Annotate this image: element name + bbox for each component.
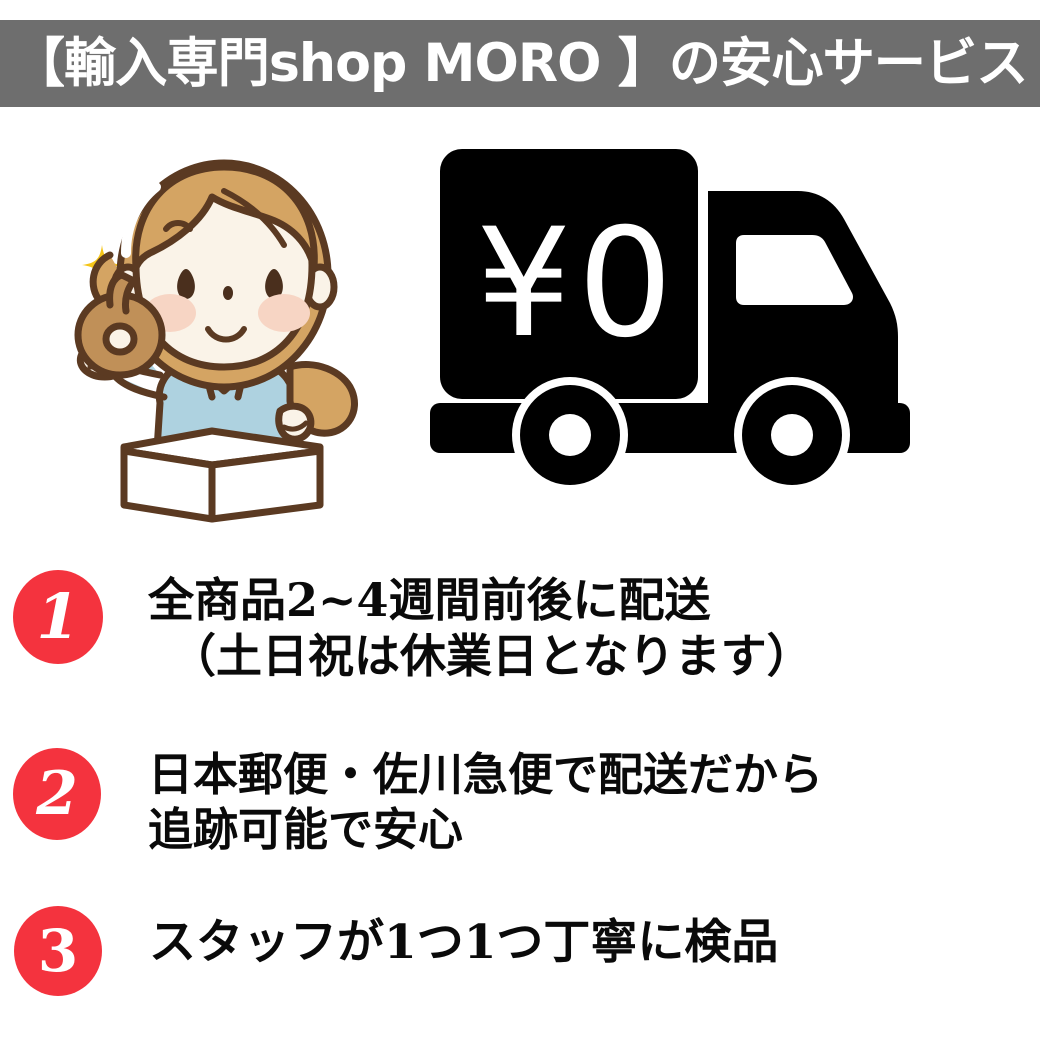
page-title: 【輸入専門shop MORO 】の安心サービス xyxy=(13,37,1028,90)
benefit-line-2b: 追跡可能で安心 xyxy=(148,803,1040,858)
benefit-text-1: 全商品2~4週間前後に配送 （土日祝は休業日となります） xyxy=(148,572,1040,684)
benefit-number-badge-1: 1 xyxy=(13,570,103,664)
benefit-number-badge-3: 3 xyxy=(14,906,102,996)
woman-packing-box-illustration xyxy=(52,135,392,525)
benefit-line-1b: （土日祝は休業日となります） xyxy=(170,628,1040,684)
truck-cargo-label: ¥0 xyxy=(476,197,679,371)
benefit-line-3a: スタッフが1つ1つ丁寧に検品 xyxy=(149,914,1040,971)
right-cheek xyxy=(258,294,310,332)
benefit-text-2: 日本郵便・佐川急便で配送だから 追跡可能で安心 xyxy=(148,748,1040,858)
header-banner: 【輸入専門shop MORO 】の安心サービス xyxy=(0,20,1040,107)
benefit-item-1: 1 全商品2~4週間前後に配送 （土日祝は休業日となります） xyxy=(0,570,1040,684)
promo-banner-page: 【輸入専門shop MORO 】の安心サービス xyxy=(0,0,1040,1040)
benefit-line-2a: 日本郵便・佐川急便で配送だから xyxy=(148,748,1040,803)
benefit-item-3: 3 スタッフが1つ1つ丁寧に検品 xyxy=(0,906,1040,996)
benefit-line-1a: 全商品2~4週間前後に配送 xyxy=(148,572,1040,628)
illustration-band: ¥0 xyxy=(0,115,1040,535)
free-shipping-truck-icon: ¥0 xyxy=(420,135,980,505)
benefit-number-badge-2: 2 xyxy=(13,748,101,840)
benefit-item-2: 2 日本郵便・佐川急便で配送だから 追跡可能で安心 xyxy=(0,748,1040,858)
benefit-text-3: スタッフが1つ1つ丁寧に検品 xyxy=(149,914,1040,971)
